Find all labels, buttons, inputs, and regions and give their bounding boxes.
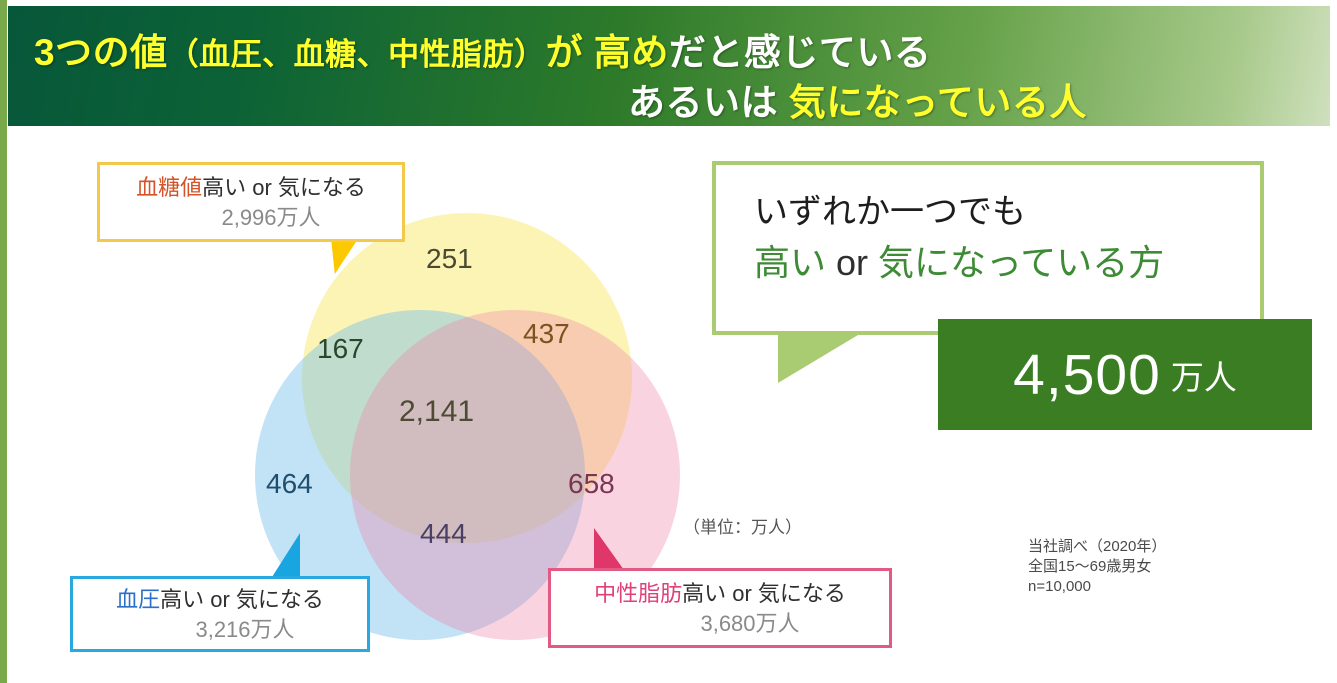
callout-glucose-rest: 高い or 気になる: [202, 175, 366, 200]
summary-line-1: いずれか一つでも: [754, 187, 1260, 237]
venn-value-glucose-triglyceride: 437: [523, 318, 570, 350]
callout-bloodpressure-total: 3,216万人: [87, 615, 353, 645]
callout-tail-glucose: [331, 240, 361, 274]
header-banner: 3つの値（血圧、血糖、中性脂肪）が 高めだと感じている あるいは 気になっている…: [8, 6, 1330, 126]
venn-value-triglyceride-only: 658: [568, 468, 615, 500]
summary-l2-part-a: 高い: [754, 242, 826, 283]
callout-bloodpressure-rest: 高い or 気になる: [160, 587, 324, 612]
callout-tail-triglyceride: [594, 528, 624, 570]
venn-value-all-three: 2,141: [399, 395, 474, 429]
callout-glucose-total: 2,996万人: [114, 203, 388, 233]
callout-triglyceride-rest: 高い or 気になる: [682, 581, 846, 606]
callout-bloodpressure-label: 血圧高い or 気になる: [87, 585, 353, 615]
summary-l2-part-b: or: [826, 242, 878, 283]
callout-bloodpressure-emph: 血圧: [116, 587, 160, 612]
header-l1-part-b: （血圧、血糖、中性脂肪）: [168, 37, 546, 72]
header-line-2: あるいは 気になっている人: [628, 72, 1087, 126]
header-l1-part-d: 高め: [594, 32, 669, 73]
slide-canvas: 3つの値（血圧、血糖、中性脂肪）が 高めだと感じている あるいは 気になっている…: [0, 0, 1337, 683]
source-line-3: n=10,000: [1028, 577, 1166, 597]
callout-triglyceride-label: 中性脂肪高い or 気になる: [565, 579, 875, 609]
summary-line-2: 高い or 気になっている方: [754, 237, 1260, 289]
header-l1-part-e: だと感じている: [669, 32, 932, 73]
callout-triglyceride-emph: 中性脂肪: [594, 581, 682, 606]
summary-callout: いずれか一つでも 高い or 気になっている方: [712, 161, 1264, 335]
left-accent-bar: [0, 0, 7, 683]
summary-l2-part-c: 気になっている方: [878, 242, 1164, 283]
callout-glucose-label: 血糖値高い or 気になる: [114, 173, 388, 203]
header-l1-part-a: 3つの値: [34, 32, 168, 73]
total-number-box: 4,500 万人: [938, 319, 1312, 430]
callout-bloodpressure: 血圧高い or 気になる 3,216万人: [70, 576, 370, 652]
venn-value-glucose-bloodpressure: 167: [317, 333, 364, 365]
venn-value-glucose-only: 251: [426, 243, 473, 275]
source-note: 当社調べ（2020年） 全国15〜69歳男女 n=10,000: [1028, 537, 1166, 597]
venn-value-bloodpressure-only: 464: [266, 468, 313, 500]
callout-glucose: 血糖値高い or 気になる 2,996万人: [97, 162, 405, 242]
header-l1-part-c: が: [546, 32, 594, 73]
callout-triglyceride: 中性脂肪高い or 気になる 3,680万人: [548, 568, 892, 648]
unit-note: （単位：万人）: [683, 513, 802, 538]
source-line-2: 全国15〜69歳男女: [1028, 557, 1166, 577]
venn-value-bloodpressure-triglyceride: 444: [420, 518, 467, 550]
source-line-1: 当社調べ（2020年）: [1028, 537, 1166, 557]
callout-glucose-emph: 血糖値: [136, 175, 202, 200]
total-number-value: 4,500: [1013, 342, 1161, 408]
callout-triglyceride-total: 3,680万人: [565, 609, 875, 639]
header-l2-part-b: 気になっている人: [789, 82, 1087, 123]
summary-callout-tail: [778, 335, 858, 383]
header-l2-part-a: あるいは: [628, 82, 789, 123]
header-line-1: 3つの値（血圧、血糖、中性脂肪）が 高めだと感じている: [34, 22, 931, 76]
total-number-unit: 万人: [1171, 351, 1237, 399]
callout-tail-bloodpressure: [272, 533, 300, 577]
